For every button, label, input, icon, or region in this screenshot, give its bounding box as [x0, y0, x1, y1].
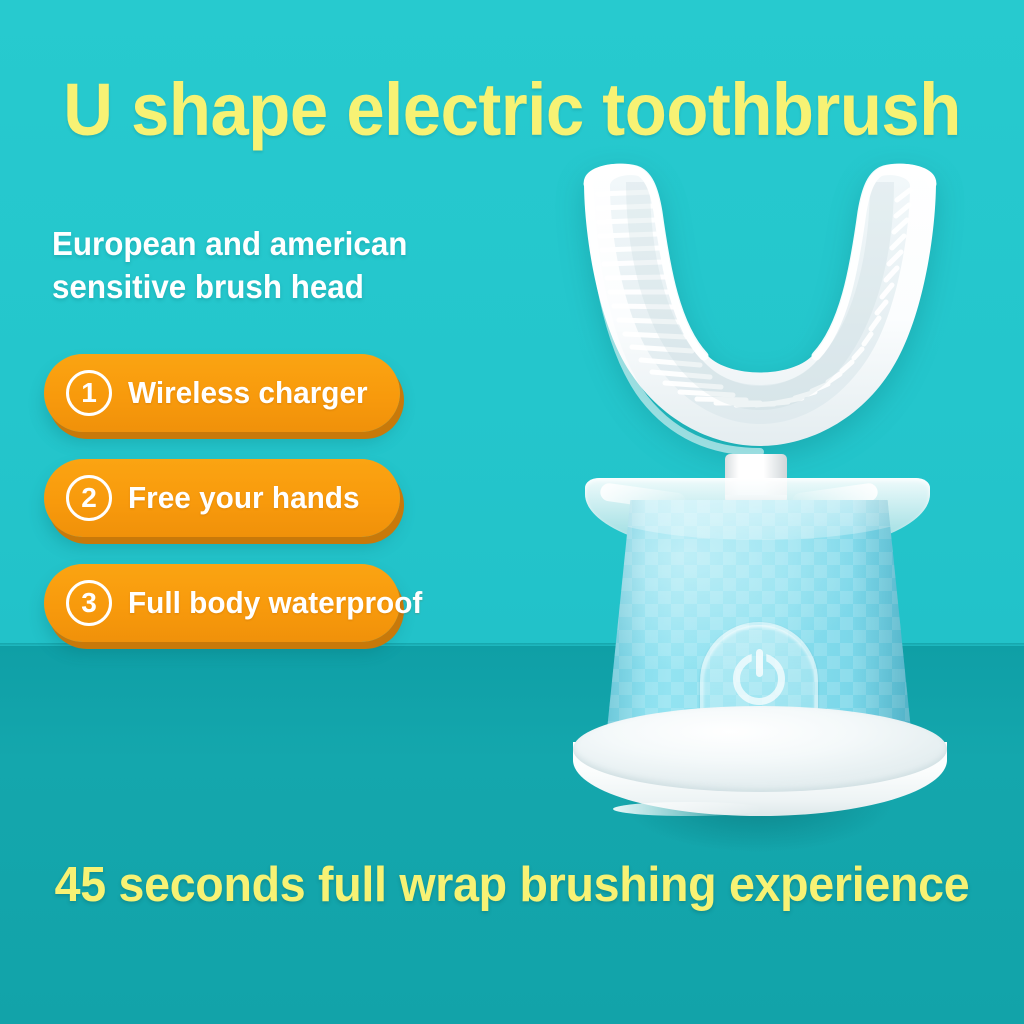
feature-number-badge-1: 1: [66, 370, 112, 416]
feature-label-3: Full body waterproof: [128, 585, 422, 621]
subtitle-line-1: European and american: [52, 222, 499, 265]
feature-label-1: Wireless charger: [128, 375, 368, 411]
feature-pill-1[interactable]: 1 Wireless charger: [44, 354, 400, 432]
feature-pill-2[interactable]: 2 Free your hands: [44, 459, 400, 537]
charging-base-highlight: [613, 802, 763, 816]
feature-number-badge-3: 3: [66, 580, 112, 626]
wireless-charging-base: [573, 706, 947, 840]
charging-base-top: [573, 706, 947, 792]
power-icon-bar: [756, 649, 763, 677]
power-icon: [733, 653, 785, 705]
feature-number-badge-2: 2: [66, 475, 112, 521]
subtitle-line-2: sensitive brush head: [52, 265, 499, 308]
page-subtitle: European and american sensitive brush he…: [52, 222, 499, 308]
feature-label-2: Free your hands: [128, 480, 360, 516]
product-image: [540, 160, 980, 860]
product-banner: U shape electric toothbrush European and…: [0, 0, 1024, 1024]
feature-pill-3[interactable]: 3 Full body waterproof: [44, 564, 400, 642]
u-shaped-brush-head-icon: [540, 160, 980, 490]
page-title: U shape electric toothbrush: [36, 72, 988, 148]
bottom-caption: 45 seconds full wrap brushing experience: [26, 858, 999, 912]
